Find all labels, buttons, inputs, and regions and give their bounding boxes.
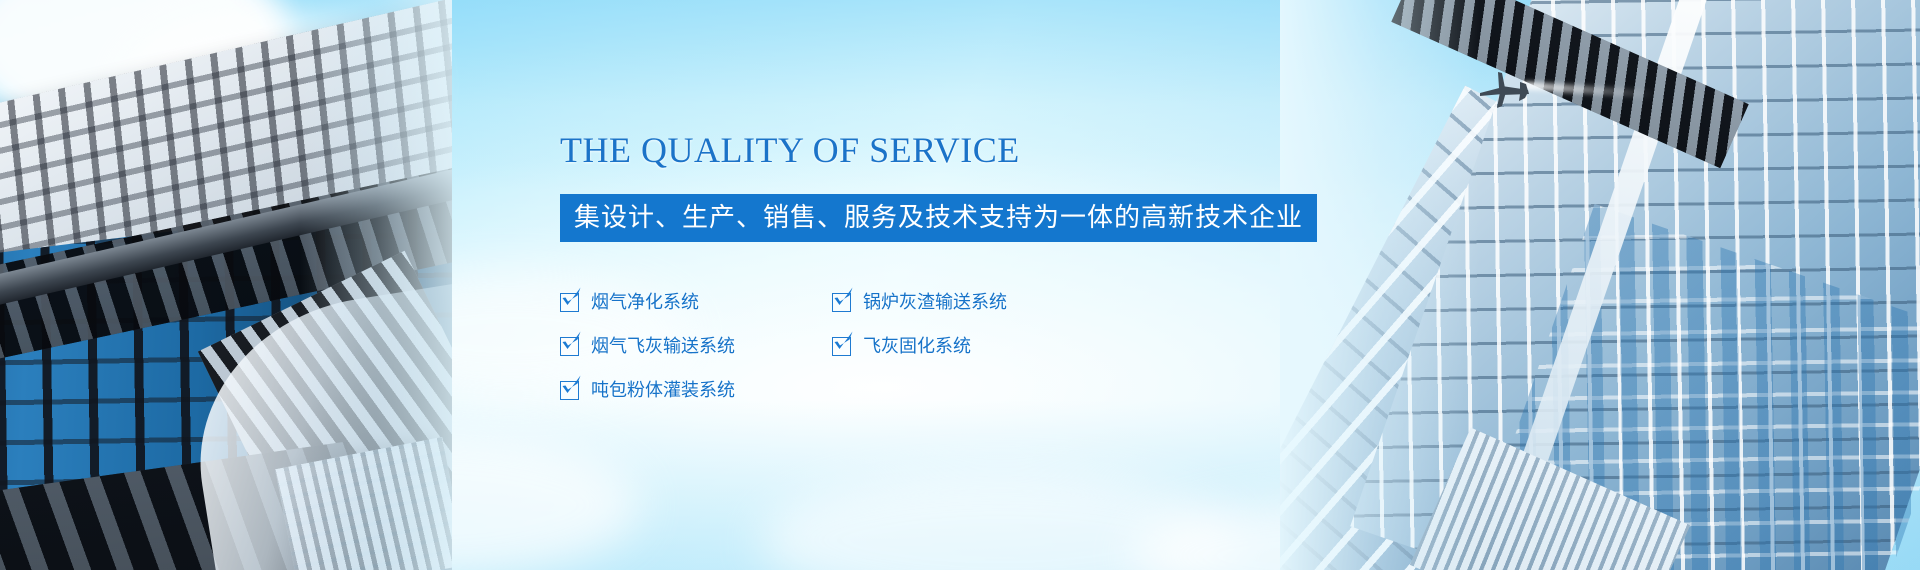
checkbox-checked-icon[interactable] <box>832 337 851 356</box>
checkbox-checked-icon[interactable] <box>560 293 579 312</box>
airplane-silhouette-icon <box>1472 68 1532 112</box>
checkbox-checked-icon[interactable] <box>560 381 579 400</box>
banner-content: THE QUALITY OF SERVICE 集设计、生产、销售、服务及技术支持… <box>560 132 1420 412</box>
feature-item[interactable]: 烟气飞灰输送系统 <box>560 337 832 356</box>
feature-label: 烟气飞灰输送系统 <box>591 337 735 355</box>
feature-list: 烟气净化系统 锅炉灰渣输送系统 烟气飞灰输送系统 飞灰固化系统 <box>560 280 1420 412</box>
feature-label: 烟气净化系统 <box>591 293 699 311</box>
feature-label: 吨包粉体灌装系统 <box>591 381 735 399</box>
feature-label: 锅炉灰渣输送系统 <box>863 293 1007 311</box>
checkbox-checked-icon[interactable] <box>832 293 851 312</box>
checkbox-checked-icon[interactable] <box>560 337 579 356</box>
feature-item[interactable]: 飞灰固化系统 <box>832 337 1420 356</box>
feature-item[interactable]: 吨包粉体灌装系统 <box>560 381 832 400</box>
hero-banner: THE QUALITY OF SERVICE 集设计、生产、销售、服务及技术支持… <box>0 0 1920 570</box>
feature-label: 飞灰固化系统 <box>863 337 971 355</box>
left-edge-fade <box>300 0 452 570</box>
left-building-photo <box>0 0 452 570</box>
tagline-ribbon: 集设计、生产、销售、服务及技术支持为一体的高新技术企业 <box>560 194 1317 242</box>
feature-item[interactable]: 锅炉灰渣输送系统 <box>832 293 1420 312</box>
feature-item[interactable]: 烟气净化系统 <box>560 293 832 312</box>
page-title: THE QUALITY OF SERVICE <box>560 132 1420 168</box>
